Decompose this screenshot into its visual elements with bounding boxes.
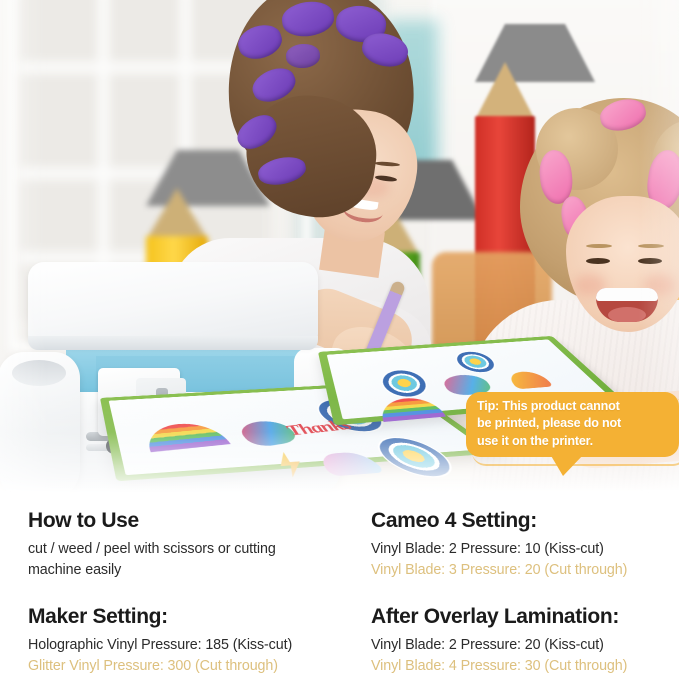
- cameo-setting-heading: Cameo 4 Setting:: [371, 508, 671, 534]
- maker-setting-line-2: Glitter Vinyl Pressure: 300 (Cut through…: [28, 656, 328, 673]
- tip-callout-tail: [550, 454, 584, 476]
- maker-setting-heading: Maker Setting:: [28, 604, 328, 630]
- after-overlay-line-1: Vinyl Blade: 2 Pressure: 20 (Kiss-cut): [371, 635, 671, 656]
- tip-line-3: use it on the printer.: [477, 433, 673, 450]
- instructions-column-left: How to Use cut / weed / peel with scisso…: [28, 500, 328, 673]
- maker-setting-line-1: Holographic Vinyl Pressure: 185 (Kiss-cu…: [28, 635, 328, 656]
- after-overlay-heading: After Overlay Lamination:: [371, 604, 671, 630]
- cameo-setting-line-1: Vinyl Blade: 2 Pressure: 10 (Kiss-cut): [371, 539, 671, 560]
- how-to-use-line-1: cut / weed / peel with scissors or cutti…: [28, 539, 328, 560]
- instructions-panel: How to Use cut / weed / peel with scisso…: [0, 500, 679, 673]
- machine-lid: [28, 262, 318, 344]
- tip-line-1: Tip: This product cannot: [477, 398, 673, 415]
- after-overlay-line-2: Vinyl Blade: 4 Pressure: 30 (Cut through…: [371, 656, 671, 673]
- tip-callout: Tip: This product cannot be printed, ple…: [466, 392, 679, 472]
- instructions-column-right: Cameo 4 Setting: Vinyl Blade: 2 Pressure…: [371, 500, 671, 673]
- tip-callout-text: Tip: This product cannot be printed, ple…: [477, 398, 673, 450]
- tip-line-2: be printed, please do not: [477, 415, 673, 432]
- how-to-use-heading: How to Use: [28, 508, 328, 534]
- how-to-use-line-2: machine easily: [28, 560, 328, 581]
- product-infographic: Thanks Tip: This product cannot be print…: [0, 0, 679, 673]
- cameo-setting-line-2: Vinyl Blade: 3 Pressure: 20 (Cut through…: [371, 560, 671, 581]
